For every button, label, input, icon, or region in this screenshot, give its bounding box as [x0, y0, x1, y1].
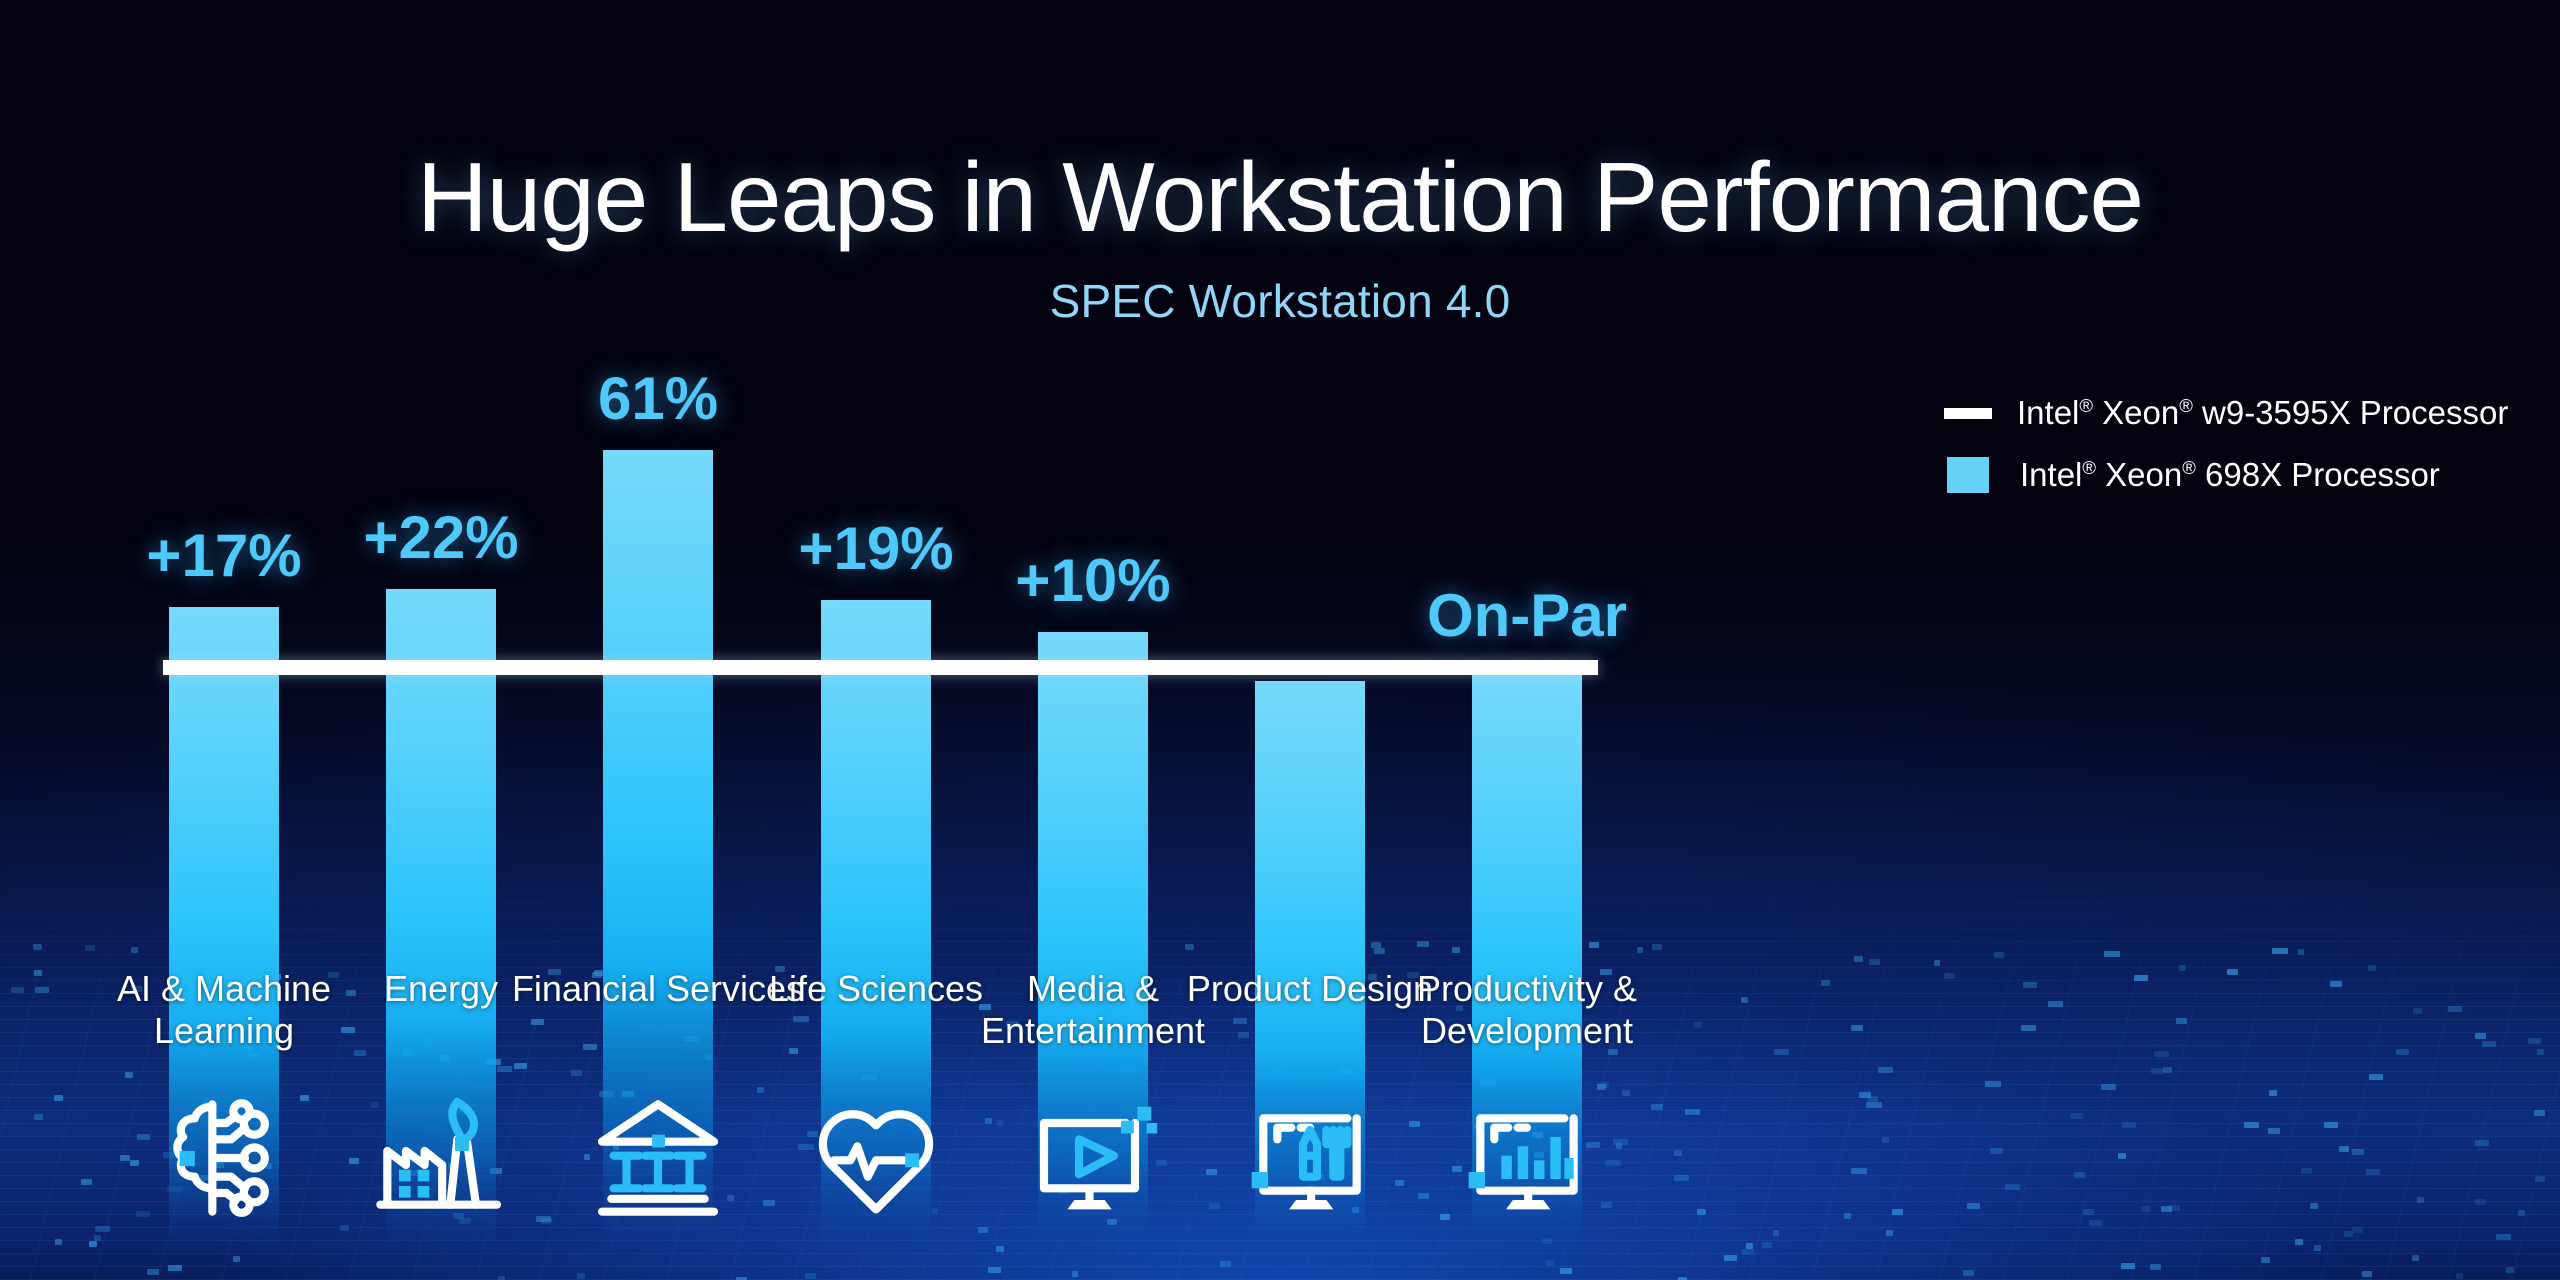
bar-chart: +17% AI & Machine Learning +22% — [0, 0, 2560, 1280]
bar-value-media-entertainment: +10% — [1015, 546, 1170, 615]
brain-circuit-icon — [139, 1088, 309, 1228]
category-label-line2: Entertainment — [928, 1010, 1258, 1052]
baseline-reference-line — [163, 660, 1598, 675]
bar-value-productivity-development: On-Par — [1427, 581, 1627, 650]
category-label-line1: Productivity & — [1362, 968, 1692, 1010]
slide-canvas: Huge Leaps in Workstation Performance SP… — [0, 0, 2560, 1280]
category-label-line2: Learning — [59, 1010, 389, 1052]
bar-value-financial-services: 61% — [598, 364, 718, 433]
bar-value-life-sciences: +19% — [798, 514, 953, 583]
category-label-line2: Development — [1362, 1010, 1692, 1052]
category-label-productivity-development: Productivity & Development — [1362, 968, 1692, 1052]
factory-leaf-icon — [356, 1088, 526, 1228]
bar-value-energy: +22% — [363, 503, 518, 572]
monitor-play-icon — [1008, 1088, 1178, 1228]
bar-value-ai-machine-learning: +17% — [146, 521, 301, 590]
monitor-chart-icon — [1442, 1088, 1612, 1228]
bank-icon — [573, 1088, 743, 1228]
monitor-tools-icon — [1225, 1088, 1395, 1228]
heart-pulse-icon — [791, 1088, 961, 1228]
